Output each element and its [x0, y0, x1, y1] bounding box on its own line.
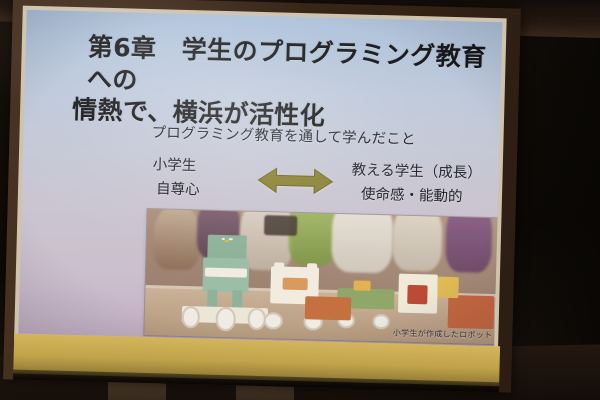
robot-crate [447, 295, 494, 329]
projector-screen: 第6章 学生のプログラミング教育への 情熱で、横浜が活性化 プログラミング教育を… [3, 0, 521, 393]
left-column: 小学生 自尊心 [152, 154, 273, 205]
robot-model [394, 268, 442, 332]
slide-title-line-1: 第6章 学生のプログラミング教育への [87, 32, 487, 94]
robot-crate [305, 296, 352, 320]
right-column: 教える学生（成長） 使命感・能動的 [351, 159, 503, 212]
double-headed-arrow-icon [256, 164, 335, 196]
robot-top-block [354, 280, 371, 291]
photo-person [445, 209, 493, 273]
photo-person [392, 209, 444, 272]
comparison-block: 小学生 自尊心 教える学生（成長） 使命感・能動的 [148, 154, 489, 211]
robot-wheel [182, 306, 200, 328]
left-column-item: 自尊心 [152, 178, 273, 205]
slide-body: プログラミング教育を通して学んだこと 小学生 自尊心 教える学生（成長） 使命感… [148, 126, 490, 210]
right-column-item: 使命感・能動的 [351, 183, 503, 212]
photo-person [331, 209, 394, 273]
robot-beak [225, 240, 229, 242]
robot-wheel [216, 307, 236, 331]
left-column-item: 小学生 [152, 154, 273, 181]
robot-wheel [263, 312, 283, 330]
robot-eye [229, 238, 233, 240]
robot-panel [205, 267, 248, 277]
robot-model [180, 228, 272, 329]
screenshot-stage: 第6章 学生のプログラミング教育への 情熱で、横浜が活性化 プログラミング教育を… [0, 0, 600, 400]
robot-block [437, 277, 459, 298]
slide-photo: 小学生が作成したロボット [144, 209, 502, 344]
presentation-slide: 第6章 学生のプログラミング教育への 情熱で、横浜が活性化 プログラミング教育を… [18, 10, 502, 346]
robot-face [407, 285, 428, 304]
slide-title: 第6章 学生のプログラミング教育への 情熱で、横浜が活性化 [86, 31, 498, 136]
robot-head [207, 234, 247, 261]
double-headed-arrow-glyph [256, 164, 335, 196]
robot-wheel [372, 314, 389, 329]
robot-face [282, 277, 308, 289]
